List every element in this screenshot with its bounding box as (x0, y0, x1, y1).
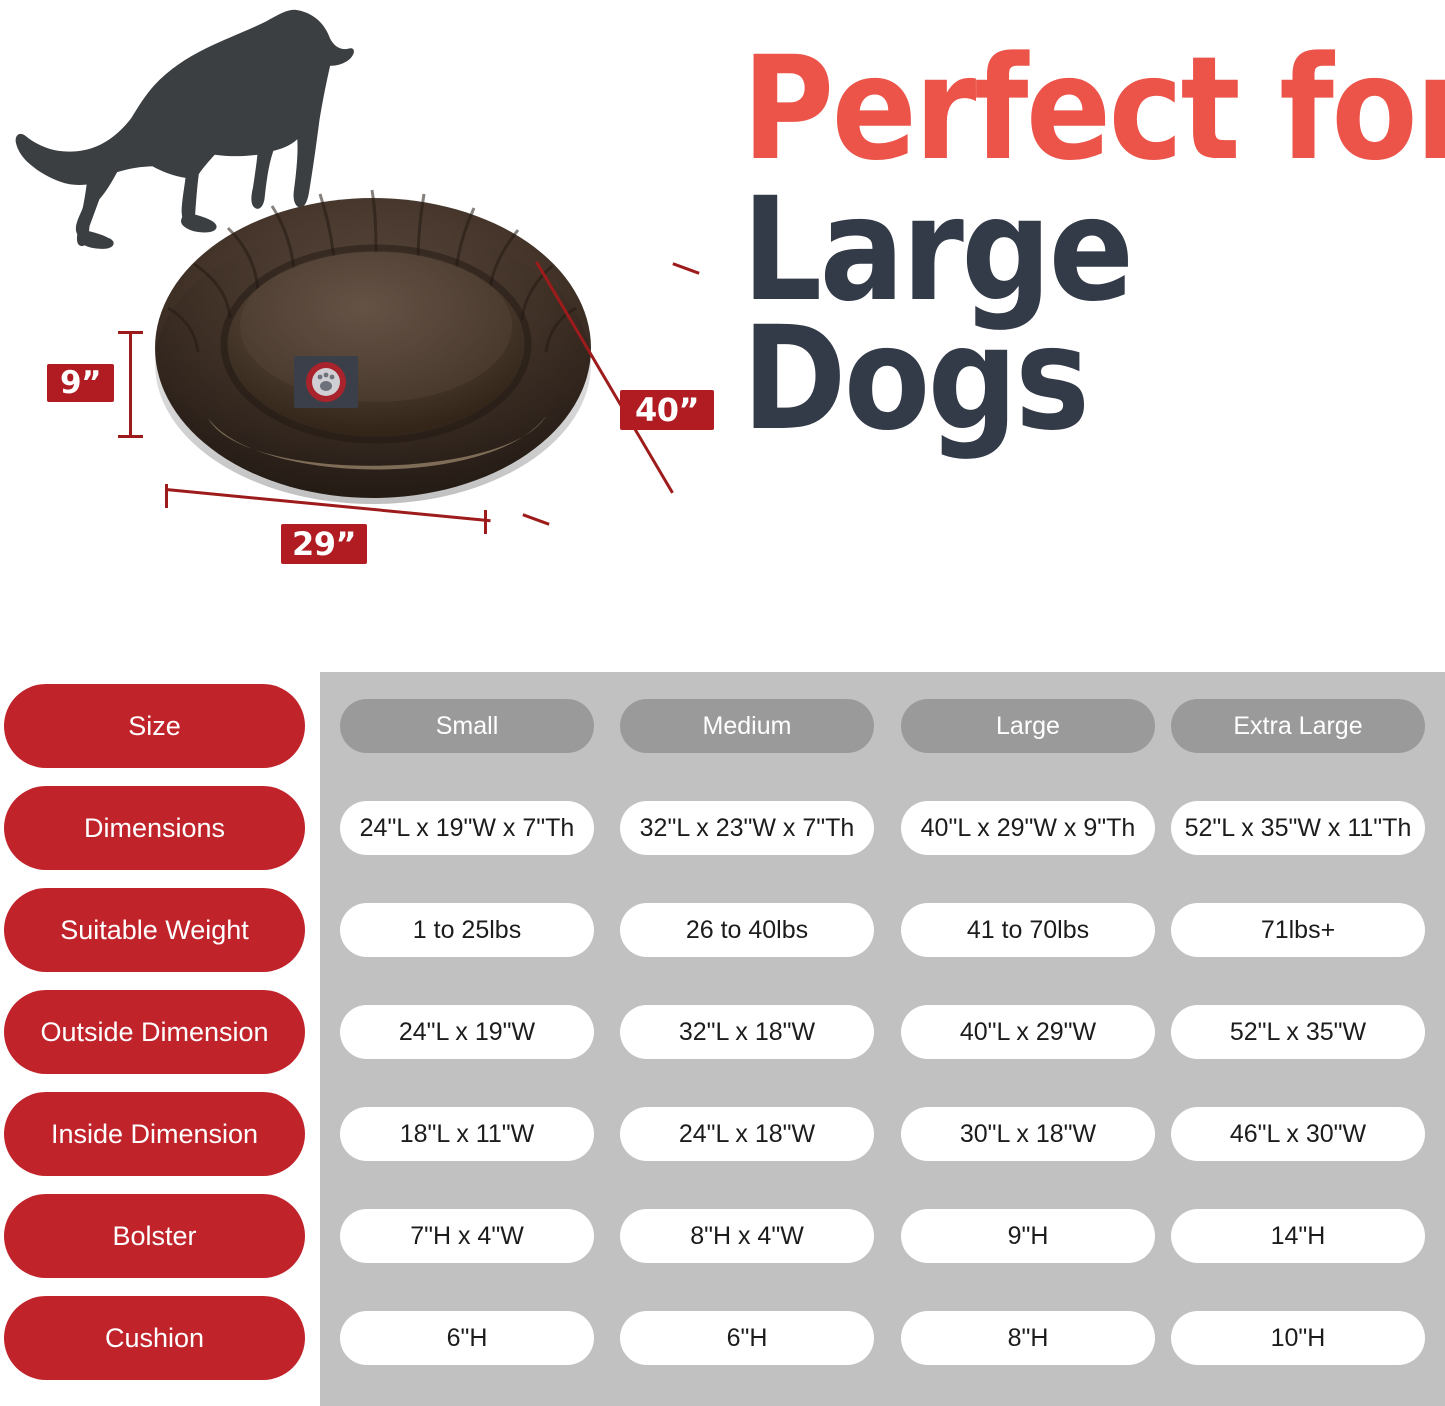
row-label-bolster: Bolster (4, 1194, 305, 1278)
row-label-size: Size (4, 684, 305, 768)
table-cell: 18"L x 11"W (340, 1107, 594, 1161)
measurement-cap-height-top (118, 331, 143, 334)
measurement-label-length: 40” (620, 390, 714, 430)
table-cell: 46"L x 30"W (1171, 1107, 1425, 1161)
headline-line-3: Dogs (742, 318, 1358, 441)
row-label-inside-dimension: Inside Dimension (4, 1092, 305, 1176)
table-cell: 7"H x 4"W (340, 1209, 594, 1263)
measurement-cap-width-left (165, 484, 168, 508)
table-cell: 52"L x 35"W x 11"Th (1171, 801, 1425, 855)
row-label-suitable-weight: Suitable Weight (4, 888, 305, 972)
measurement-line-length (535, 261, 674, 493)
table-cell: 52"L x 35"W (1171, 1005, 1425, 1059)
measurement-label-height: 9” (47, 364, 114, 402)
measurement-line-width (166, 488, 491, 522)
row-label-dimensions: Dimensions (4, 786, 305, 870)
measurement-label-width: 29” (281, 524, 367, 564)
headline-line-1: Perfect for (742, 48, 1358, 171)
table-cell: 6"H (620, 1311, 874, 1365)
measurement-cap-height-bottom (118, 435, 143, 438)
table-cell: 8"H (901, 1311, 1155, 1365)
table-cell: 9"H (901, 1209, 1155, 1263)
measurement-cap-width-right (484, 510, 487, 534)
table-cell: 8"H x 4"W (620, 1209, 874, 1263)
table-row-label-column: Size Dimensions Suitable Weight Outside … (0, 672, 320, 1406)
measurement-line-height (129, 331, 132, 438)
headline-block: Perfect for Large Dogs (742, 48, 1442, 441)
column-header-small: Small (340, 699, 594, 753)
table-cell: 10"H (1171, 1311, 1425, 1365)
column-header-large: Large (901, 699, 1155, 753)
column-header-medium: Medium (620, 699, 874, 753)
table-cell: 32"L x 18"W (620, 1005, 874, 1059)
product-infographic: 9” 29” 40” Perfect for Large Dogs Size D… (0, 0, 1445, 1406)
column-header-extra-large: Extra Large (1171, 699, 1425, 753)
table-cell: 32"L x 23"W x 7"Th (620, 801, 874, 855)
row-label-outside-dimension: Outside Dimension (4, 990, 305, 1074)
table-cell: 24"L x 19"W x 7"Th (340, 801, 594, 855)
table-cell: 26 to 40lbs (620, 903, 874, 957)
table-cell: 24"L x 18"W (620, 1107, 874, 1161)
table-cell: 41 to 70lbs (901, 903, 1155, 957)
measurement-cap-length-top (672, 262, 699, 274)
table-cell: 40"L x 29"W x 9"Th (901, 801, 1155, 855)
table-cell: 24"L x 19"W (340, 1005, 594, 1059)
table-cell: 30"L x 18"W (901, 1107, 1155, 1161)
table-cell: 1 to 25lbs (340, 903, 594, 957)
table-cell: 6"H (340, 1311, 594, 1365)
headline-line-2: Large (742, 189, 1358, 312)
specification-table: Size Dimensions Suitable Weight Outside … (0, 672, 1445, 1406)
table-cell: 14"H (1171, 1209, 1425, 1263)
table-cell: 71lbs+ (1171, 903, 1425, 957)
hero-section: 9” 29” 40” Perfect for Large Dogs (0, 0, 1445, 672)
brand-tag (294, 356, 358, 408)
measurement-cap-length-bottom (522, 513, 549, 525)
table-cell: 40"L x 29"W (901, 1005, 1155, 1059)
row-label-cushion: Cushion (4, 1296, 305, 1380)
